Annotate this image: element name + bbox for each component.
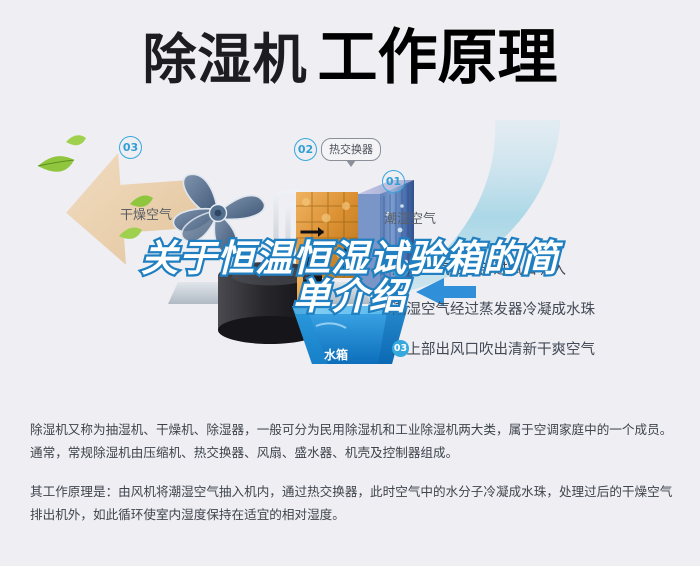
body-paragraph-1-line-1: 除湿机又称为抽湿机、干燥机、除湿器，一般可分为民用除湿机和工业除湿机两大类，属于… [30, 418, 678, 441]
article-body: 除湿机又称为抽湿机、干燥机、除湿器，一般可分为民用除湿机和工业除湿机两大类，属于… [30, 418, 678, 526]
page-root: 除湿机工作原理 [0, 0, 700, 566]
caption-badge-03: 03 [392, 340, 409, 357]
diagram-badge-01: 01 [382, 170, 405, 193]
water-tank-graphic [292, 306, 408, 364]
body-paragraph-2-line-2: 排出机外，如此循环使室内湿度保持在适宜的相对湿度。 [30, 503, 678, 526]
diagram-badge-02: 02 [294, 138, 317, 161]
paragraph-spacer [30, 464, 678, 480]
fan-graphic [173, 174, 264, 253]
page-title-part2: 工作原理 [318, 23, 558, 93]
page-title-part1: 除湿机 [143, 28, 308, 91]
caption-text-02: 潮湿空气经过蒸发器冷凝成水珠 [392, 298, 595, 319]
diagram-badge-03: 03 [119, 136, 142, 159]
page-title: 除湿机工作原理 [0, 28, 700, 88]
body-paragraph-1-line-2: 通常，常规除湿机由压缩机、热交换器、风扇、盛水器、机壳及控制器组成。 [30, 441, 678, 464]
body-paragraph-2-line-1: 其工作原理是：由风机将潮湿空气抽入机内，通过热交换器，此时空气中的水分子冷凝成水… [30, 480, 678, 503]
diagram-label-dry-air: 干燥空气 [120, 204, 172, 223]
caption-row-03: 03 从上部出风口吹出清新干爽空气 [392, 338, 595, 359]
diagram-label-humid-air: 潮湿空气 [384, 208, 436, 227]
caption-badge-01: 01 [392, 260, 409, 277]
diagram-label-water-tank: 水箱 [324, 346, 348, 363]
diagram-callout-heat-exchanger: 热交换器 [321, 138, 381, 161]
copper-coil [296, 192, 358, 278]
dehumidifier-diagram: 03 干燥空气 02 热交换器 01 潮湿空气 水箱 [0, 118, 700, 403]
caption-text-03: 从上部出风口吹出清新干爽空气 [392, 338, 595, 359]
caption-text-01: 潮湿空气由下部进风口吸入 [392, 258, 566, 279]
caption-row-02: 02 潮湿空气经过蒸发器冷凝成水珠 [392, 298, 595, 319]
caption-row-01: 01 潮湿空气由下部进风口吸入 [392, 258, 566, 279]
